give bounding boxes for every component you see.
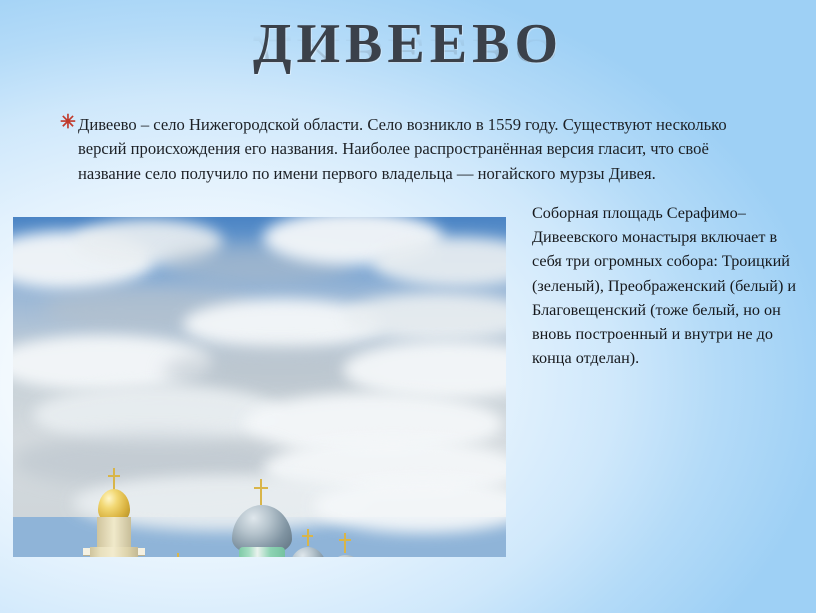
- slide-canvas: ДИВЕЕВО ДИВЕЕВО ✳ Дивеево – село Нижегор…: [0, 0, 816, 613]
- side-caption-text: Соборная площадь Серафимо–Дивеевского мо…: [532, 201, 800, 370]
- cloud: [313, 479, 506, 533]
- bell-tower-upper: [97, 517, 131, 551]
- intro-paragraph-text: Дивеево – село Нижегородской области. Се…: [78, 113, 760, 186]
- gold-cross-icon: [307, 529, 309, 546]
- gold-cross-icon: [302, 535, 313, 537]
- cathedral-drum: [239, 547, 285, 557]
- monastery-photo: [13, 217, 506, 557]
- page-title: ДИВЕЕВО: [253, 16, 563, 72]
- gold-cross-icon: [339, 539, 351, 541]
- title-block: ДИВЕЕВО: [0, 16, 816, 72]
- bell-tower-body: [90, 547, 138, 557]
- onion-dome: [289, 547, 327, 557]
- gold-cross-icon: [260, 479, 262, 505]
- onion-dome: [325, 555, 367, 557]
- intro-paragraph: ✳ Дивеево – село Нижегородской области. …: [60, 113, 760, 186]
- gold-cross-icon: [254, 487, 268, 489]
- gold-cross-icon: [113, 468, 115, 490]
- gold-cross-icon: [108, 475, 120, 477]
- gold-cross-icon: [177, 553, 179, 557]
- asterisk-bullet-icon: ✳: [60, 111, 76, 135]
- gold-cross-icon: [344, 533, 346, 553]
